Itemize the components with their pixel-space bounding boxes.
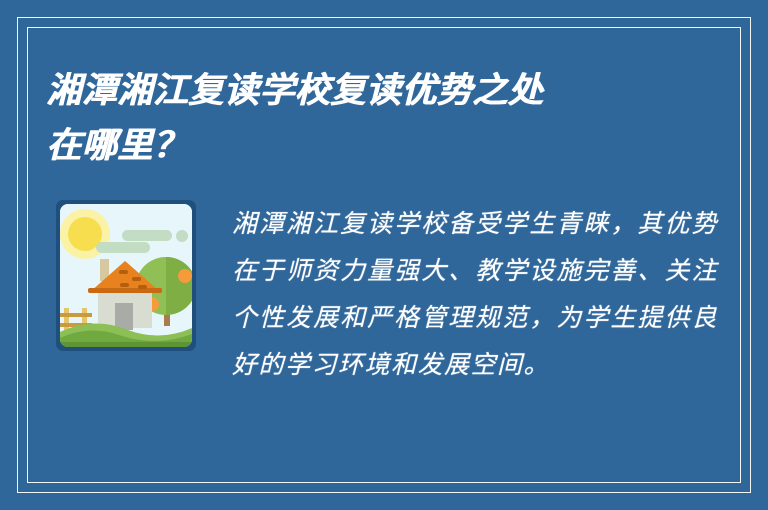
ground-shape (60, 342, 192, 347)
roof-tile-1 (119, 270, 128, 274)
fence-rail-1 (60, 313, 92, 317)
body-paragraph: 湘潭湘江复读学校备受学生青睐，其优势在于师资力量强大、教学设施完善、关注个性发展… (232, 200, 718, 388)
roof-tile-2 (132, 277, 141, 281)
cloud-icon-1 (96, 242, 150, 253)
cloud-icon-3 (176, 230, 188, 242)
door-shape (115, 303, 133, 330)
title-line-2: 在哪里？ (46, 119, 646, 174)
fence-post-1 (64, 308, 69, 332)
roof-tile-4 (138, 285, 147, 289)
illustration-svg (60, 204, 192, 347)
title-line-1: 湘潭湘江复读学校复读优势之处 (46, 64, 646, 119)
fruit-icon-1 (178, 269, 192, 283)
illustration-canvas (60, 204, 192, 347)
roof-tile-3 (120, 283, 129, 287)
house-landscape-illustration (56, 200, 196, 351)
content-row: 湘潭湘江复读学校备受学生青睐，其优势在于师资力量强大、教学设施完善、关注个性发展… (56, 200, 718, 388)
roof-eave-shape (88, 288, 162, 293)
cloud-icon-2 (122, 230, 172, 241)
page-title: 湘潭湘江复读学校复读优势之处 在哪里？ (46, 64, 646, 174)
poster-canvas: 湘潭湘江复读学校复读优势之处 在哪里？ (0, 0, 768, 510)
